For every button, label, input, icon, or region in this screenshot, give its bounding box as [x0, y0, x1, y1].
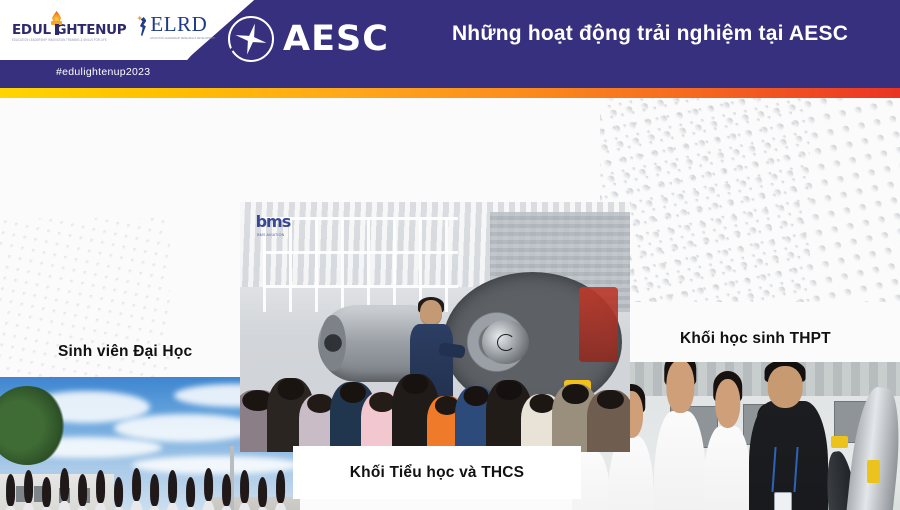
edulightenup-wordmark: EDULIGHTENUP — [12, 23, 126, 37]
photo-watermark: bms — [256, 212, 291, 231]
brand-logo-row: EDULIGHTENUP EDUCATION LEADERSHIP INNOVA… — [12, 14, 215, 42]
edulightenup-word-right: GHTENUP — [56, 22, 127, 38]
page-title: Những hoạt động trải nghiệm tại AESC — [410, 22, 890, 46]
caption-right: Khối học sinh THPT — [630, 196, 900, 362]
elrd-logo: ✦ ELRD EDUCATION LEADERSHIP RESEARCH & D… — [136, 14, 215, 42]
slide-body: bms BMS AVIATION — [0, 98, 900, 510]
presentation-slide: EDULIGHTENUP EDUCATION LEADERSHIP INNOVA… — [0, 0, 900, 510]
torch-icon — [50, 11, 63, 35]
edulightenup-word-left: EDUL — [12, 22, 51, 38]
aesc-wordmark: AESC — [283, 22, 389, 57]
caption-left: Sinh viên Đại Học — [0, 196, 240, 377]
instructor-figure — [749, 401, 828, 510]
elrd-wordmark: ELRD — [150, 14, 215, 35]
id-badge — [774, 492, 792, 510]
student-group-row — [0, 493, 300, 510]
photo-watermark-subtitle: BMS AVIATION — [257, 233, 284, 237]
accent-gradient-bar — [0, 88, 900, 98]
aesc-turbine-icon — [228, 16, 274, 62]
elrd-tagline: EDUCATION LEADERSHIP RESEARCH & DEVELOPM… — [150, 35, 215, 42]
hashtag-label: #edulightenup2023 — [56, 66, 150, 78]
edulightenup-tagline: EDUCATION LEADERSHIP INNOVATION TRAINING… — [12, 37, 126, 44]
photo-center-hangar: bms BMS AVIATION — [240, 202, 630, 452]
caption-middle: Khối Tiểu học và THCS — [293, 446, 581, 499]
student-crowd — [240, 352, 630, 452]
elrd-figure-icon: ✦ — [136, 14, 149, 38]
edulightenup-logo: EDULIGHTENUP EDUCATION LEADERSHIP INNOVA… — [12, 23, 126, 42]
aesc-logo: AESC — [228, 16, 389, 62]
